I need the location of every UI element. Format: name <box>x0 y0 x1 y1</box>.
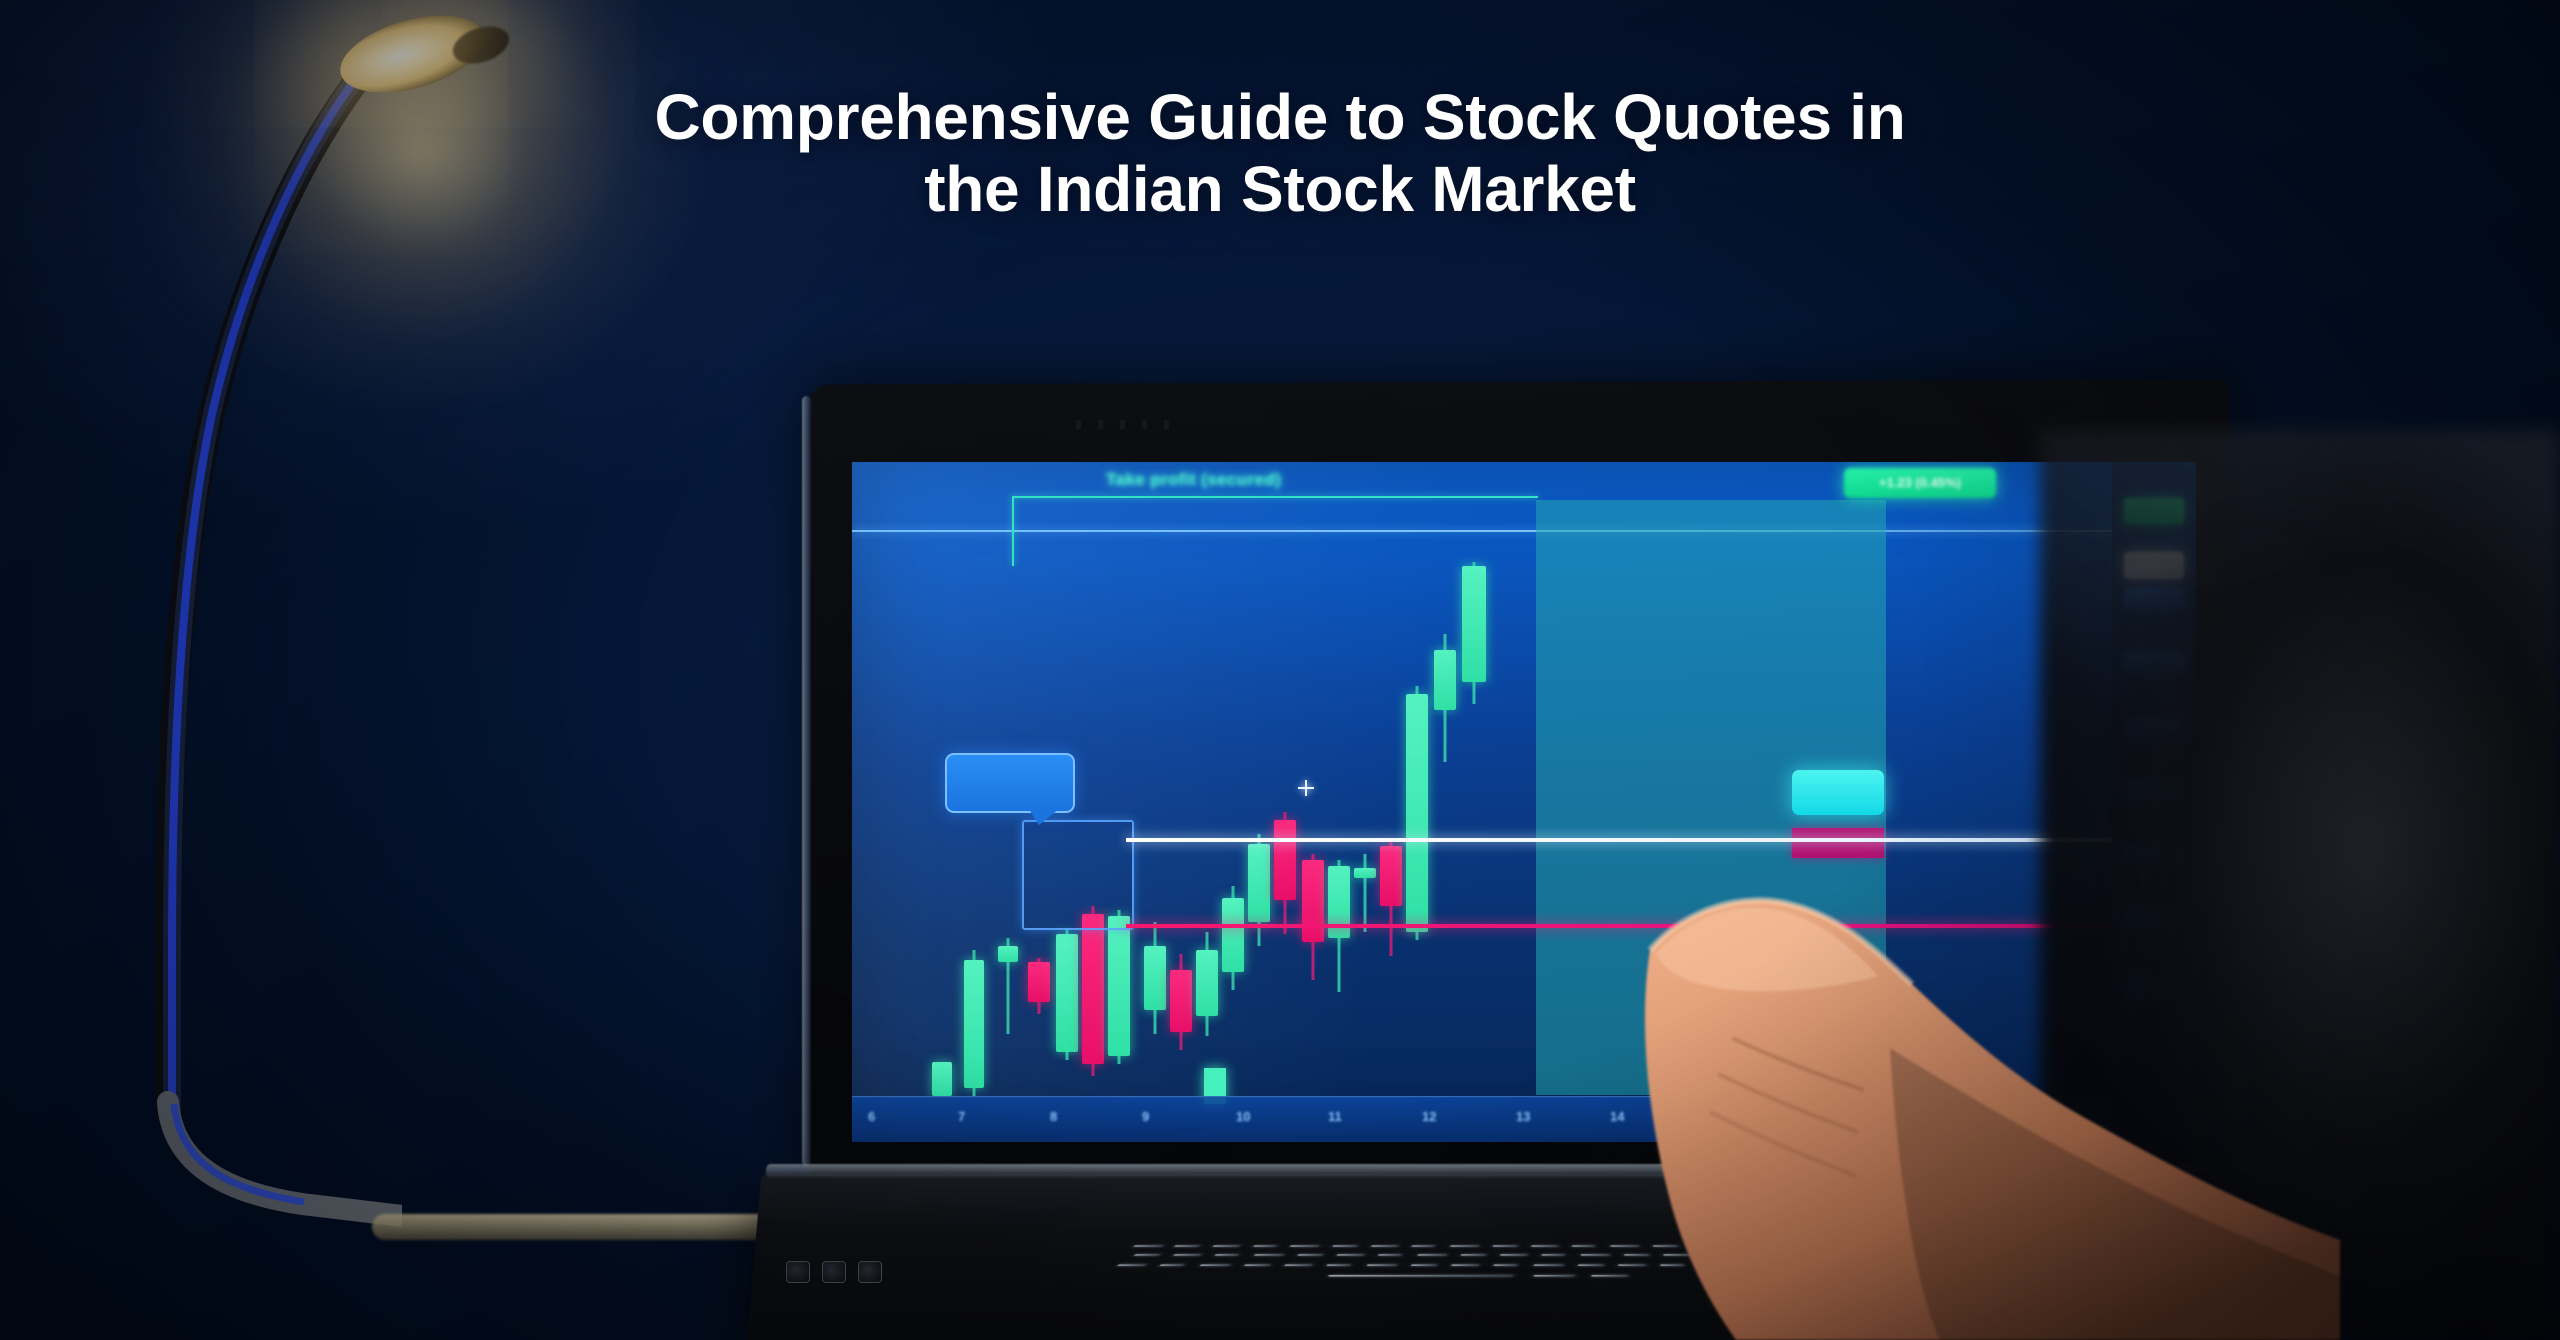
x-tick-label: 11 <box>1328 1109 1342 1124</box>
candle <box>1380 840 1402 956</box>
webcam-icon <box>1076 420 1206 429</box>
crosshair-cursor-icon <box>1298 780 1314 796</box>
candle <box>1248 834 1270 946</box>
candle <box>1028 958 1050 1014</box>
page-title-line-2: the Indian Stock Market <box>380 154 2180 226</box>
x-tick-label: 7 <box>958 1109 965 1124</box>
selection-box[interactable] <box>1022 820 1134 930</box>
entry-price-line[interactable] <box>1126 838 2138 842</box>
laptop-ports <box>786 1252 906 1292</box>
candle <box>1222 886 1244 990</box>
page-title-line-1: Comprehensive Guide to Stock Quotes in <box>654 81 1905 153</box>
x-tick-label: 9 <box>1142 1109 1149 1124</box>
laptop-lid-edge <box>802 396 811 1166</box>
candle <box>1144 922 1166 1034</box>
candle <box>1406 686 1428 940</box>
lamp-arm <box>72 52 402 1232</box>
x-tick-label: 6 <box>868 1109 875 1124</box>
x-tick-label: 12 <box>1422 1109 1436 1124</box>
x-tick-label: 10 <box>1236 1109 1250 1124</box>
candle <box>1434 634 1456 762</box>
candle <box>1056 928 1078 1060</box>
candle <box>998 938 1018 1034</box>
candle <box>1354 854 1376 932</box>
pointing-hand <box>1640 888 2340 1340</box>
candle <box>1274 812 1296 934</box>
x-tick-label: 14 <box>1610 1109 1624 1124</box>
x-tick-label: 8 <box>1050 1109 1057 1124</box>
page-title: Comprehensive Guide to Stock Quotes in t… <box>380 82 2180 225</box>
candle <box>1462 562 1486 704</box>
candle <box>1170 954 1192 1050</box>
candle <box>1196 932 1218 1036</box>
candle <box>932 1062 952 1096</box>
candle <box>1302 854 1324 980</box>
candle <box>1108 910 1130 1064</box>
tooltip-bubble[interactable] <box>945 753 1075 813</box>
candle <box>1082 906 1104 1076</box>
x-tick-label: 13 <box>1516 1109 1530 1124</box>
candle <box>964 950 984 1098</box>
